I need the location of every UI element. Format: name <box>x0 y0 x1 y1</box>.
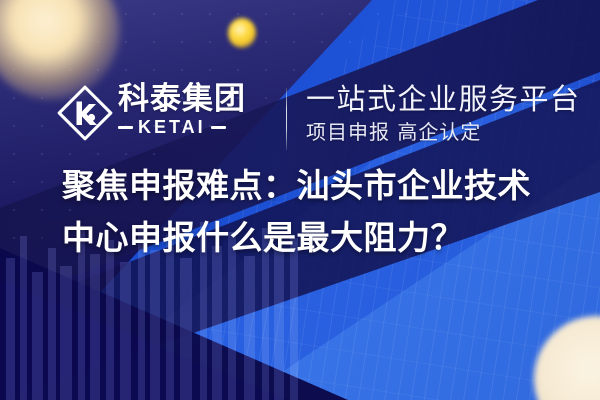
slogan-block: 一站式企业服务平台 项目申报 高企认定 <box>306 82 556 145</box>
page-title: 聚焦申报难点：汕头市企业技术中心申报什么是最大阻力？ <box>62 160 562 264</box>
brand-name-en: KETAI <box>138 118 206 137</box>
dash-right-icon <box>211 126 226 129</box>
brand-wordmark: 科泰集团 KETAI <box>118 82 276 148</box>
brand-name-en-row: KETAI <box>118 118 276 137</box>
slogan-sub: 项目申报 高企认定 <box>306 119 556 145</box>
header-divider <box>286 88 287 150</box>
brand-header: 科泰集团 KETAI 一站式企业服务平台 项目申报 高企认定 <box>0 38 600 124</box>
ketai-diamond-monogram-icon <box>56 84 114 142</box>
slogan-main: 一站式企业服务平台 <box>306 82 556 116</box>
dash-left-icon <box>118 126 133 129</box>
article-cover-banner: 科泰集团 KETAI 一站式企业服务平台 项目申报 高企认定 聚焦申报难点：汕头… <box>0 0 600 400</box>
brand-name-cn: 科泰集团 <box>118 82 276 116</box>
